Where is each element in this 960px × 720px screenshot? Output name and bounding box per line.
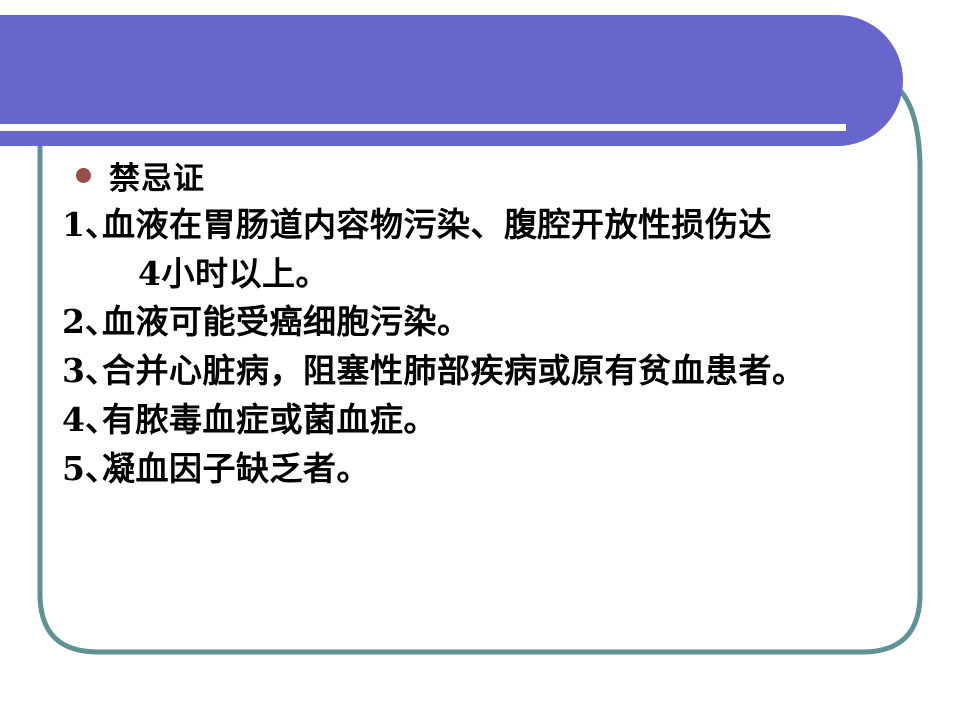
numbered-item-1-continuation: 4小时以上。 [62, 252, 922, 297]
presentation-slide: 禁忌证 1、血液在胃肠道内容物污染、腹腔开放性损伤达 4小时以上。 2、血液可能… [0, 0, 960, 720]
item-marker-5: 5、 [62, 447, 102, 492]
numbered-item-3: 3、合并心脏病，阻塞性肺部疾病或原有贫血患者。 [62, 349, 922, 394]
item-text-5: 凝血因子缺乏者。 [102, 449, 370, 488]
item-marker-2: 2、 [62, 300, 102, 345]
item-marker-1: 1、 [62, 203, 102, 248]
slide-body: 禁忌证 1、血液在胃肠道内容物污染、腹腔开放性损伤达 4小时以上。 2、血液可能… [62, 162, 922, 496]
item-text-3: 合并心脏病，阻塞性肺部疾病或原有贫血患者。 [102, 351, 806, 390]
item-text-1: 血液在胃肠道内容物污染、腹腔开放性损伤达 [102, 205, 772, 244]
numbered-item-2: 2、血液可能受癌细胞污染。 [62, 300, 922, 345]
bullet-item-label: 禁忌证 [109, 162, 205, 197]
numbered-item-1: 1、血液在胃肠道内容物污染、腹腔开放性损伤达 [62, 203, 922, 248]
item-marker-3: 3、 [62, 349, 102, 394]
header-divider-rule [0, 124, 846, 131]
item-text-4: 有脓毒血症或菌血症。 [102, 400, 437, 439]
bullet-list-item: 禁忌证 [62, 162, 922, 197]
bullet-dot-icon [76, 168, 91, 183]
numbered-item-4: 4、有脓毒血症或菌血症。 [62, 398, 922, 443]
item-text-1-continuation: 4小时以上。 [138, 254, 329, 293]
item-marker-4: 4、 [62, 398, 102, 443]
numbered-item-5: 5、凝血因子缺乏者。 [62, 447, 922, 492]
item-text-2: 血液可能受癌细胞污染。 [102, 302, 471, 341]
